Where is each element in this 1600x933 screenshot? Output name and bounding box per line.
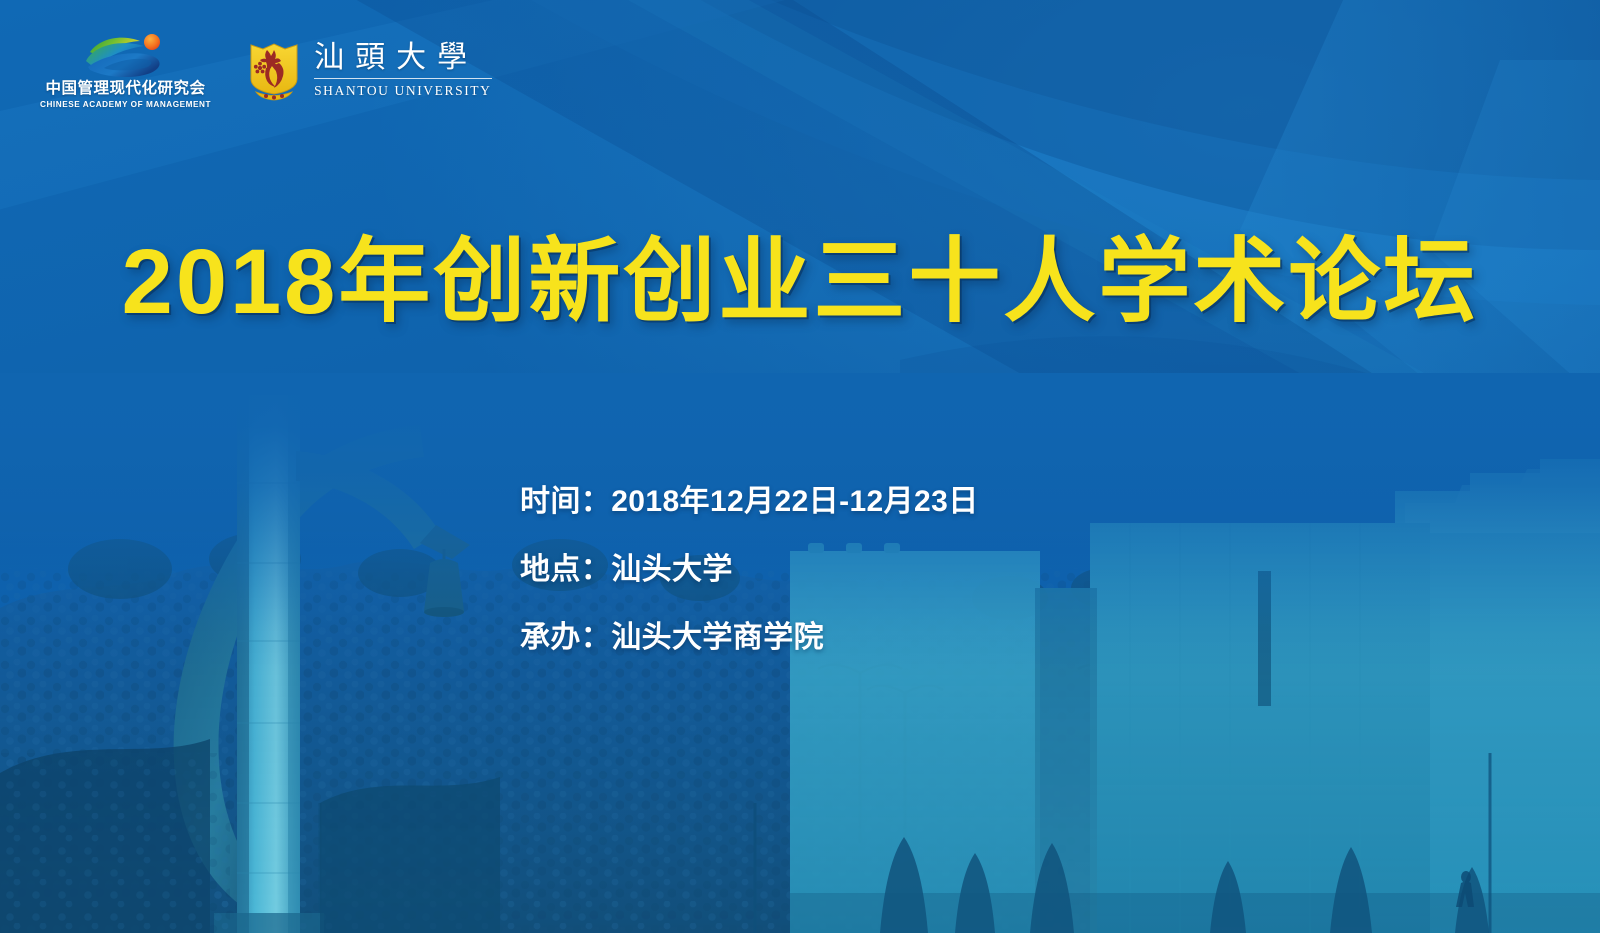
- logo-bar: 中国管理现代化研究会 CHINESE ACADEMY OF MANAGEMENT: [40, 30, 492, 109]
- shantou-wordmark: 汕頭大學 SHANTOU UNIVERSITY: [314, 42, 491, 97]
- shantou-university-crest: [247, 39, 301, 101]
- shantou-name-en: SHANTOU UNIVERSITY: [314, 84, 491, 98]
- detail-line-time: 时间：2018年12月22日-12月23日: [520, 487, 979, 517]
- cam-swoosh-mark: [78, 30, 174, 80]
- detail-line-organizer: 承办：汕头大学商学院: [520, 623, 979, 653]
- poster-title: 2018年创新创业三十人学术论坛: [0, 236, 1600, 328]
- logo-shantou-university: 汕頭大學 SHANTOU UNIVERSITY: [247, 39, 491, 101]
- cam-name-cn: 中国管理现代化研究会: [46, 81, 206, 97]
- poster-slide: 中国管理现代化研究会 CHINESE ACADEMY OF MANAGEMENT: [0, 0, 1600, 933]
- shantou-name-cn: 汕頭大學: [314, 42, 491, 78]
- cam-name-en: CHINESE ACADEMY OF MANAGEMENT: [40, 100, 211, 110]
- logo-chinese-academy-of-management: 中国管理现代化研究会 CHINESE ACADEMY OF MANAGEMENT: [40, 30, 211, 109]
- event-details: 时间：2018年12月22日-12月23日 地点：汕头大学 承办：汕头大学商学院: [520, 487, 979, 653]
- detail-line-location: 地点：汕头大学: [520, 555, 979, 585]
